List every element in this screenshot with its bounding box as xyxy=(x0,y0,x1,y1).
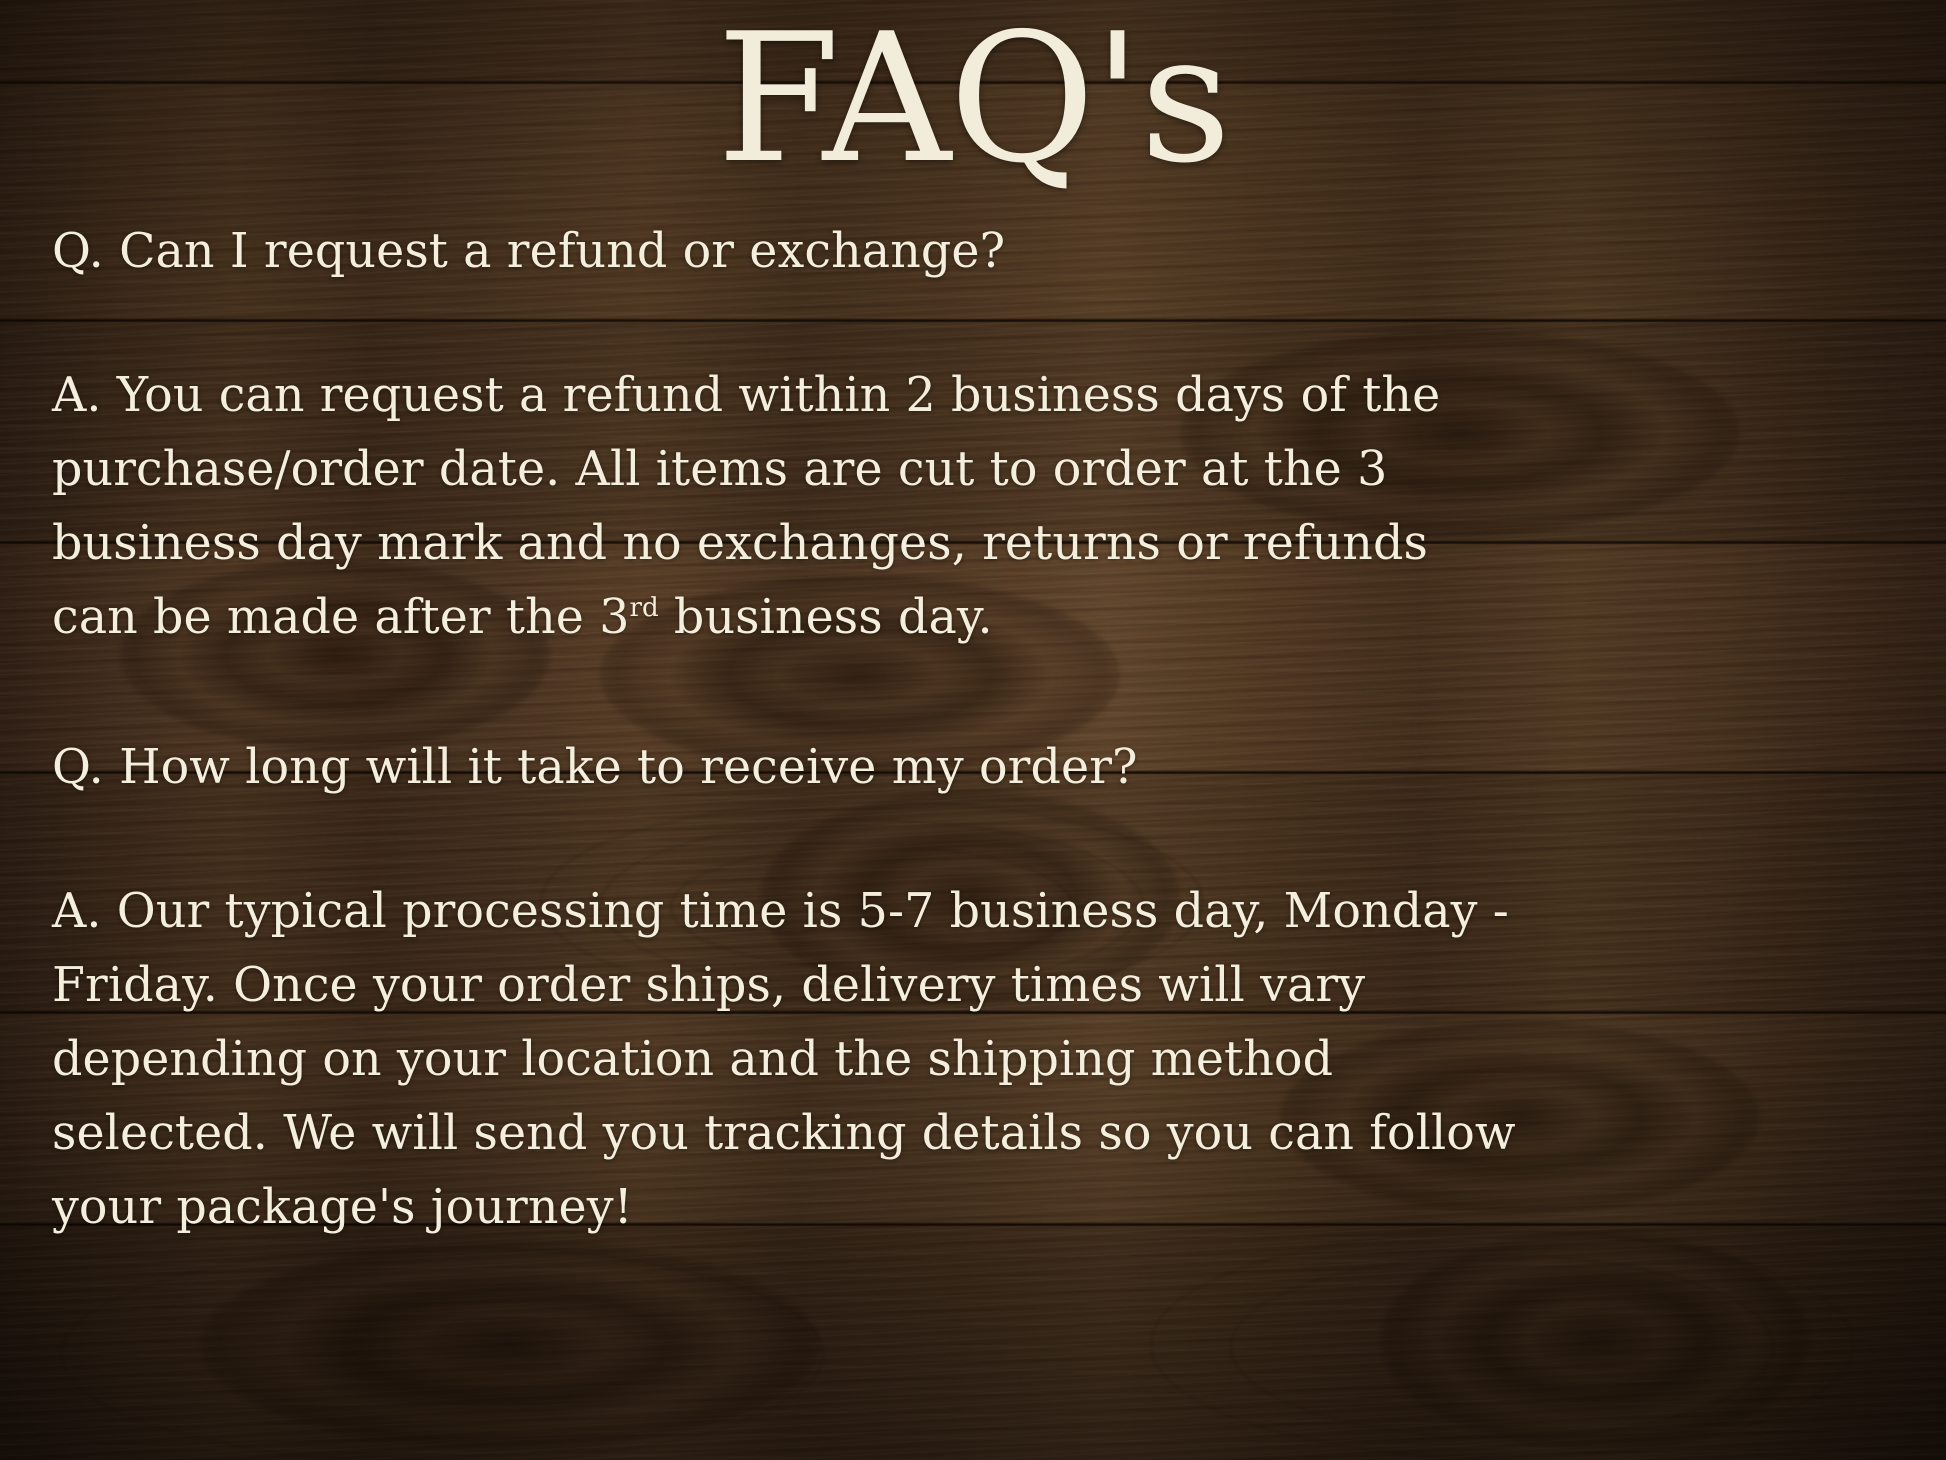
page-title: FAQ's xyxy=(0,8,1946,190)
ordinal-suffix: rd xyxy=(630,593,659,623)
page-content: FAQ's Q. Can I request a refund or excha… xyxy=(0,0,1946,1460)
faq-page: FAQ's Q. Can I request a refund or excha… xyxy=(0,0,1946,1460)
faq-question: Q. Can I request a refund or exchange? xyxy=(52,215,1522,289)
faq-item: Q. Can I request a refund or exchange? A… xyxy=(52,215,1522,655)
faq-item: Q. How long will it take to receive my o… xyxy=(52,731,1522,1245)
spacer xyxy=(52,289,1522,359)
faq-answer: A. Our typical processing time is 5-7 bu… xyxy=(52,875,1522,1245)
faq-list: Q. Can I request a refund or exchange? A… xyxy=(52,215,1522,1245)
spacer xyxy=(52,655,1522,731)
faq-answer-text-tail: business day. xyxy=(659,590,993,645)
faq-question: Q. How long will it take to receive my o… xyxy=(52,731,1522,805)
faq-answer: A. You can request a refund within 2 bus… xyxy=(52,359,1522,655)
faq-answer-text: A. Our typical processing time is 5-7 bu… xyxy=(52,884,1516,1235)
spacer xyxy=(52,805,1522,875)
